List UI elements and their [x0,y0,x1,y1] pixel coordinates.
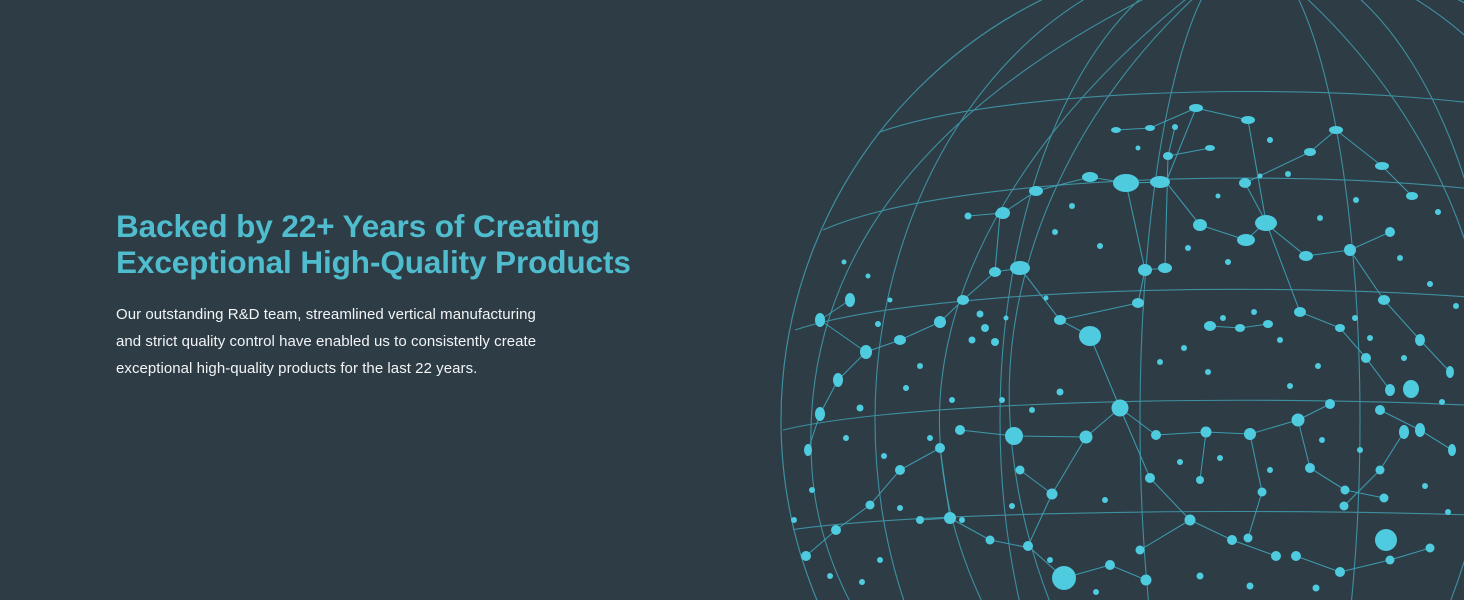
hero-copy-block: Backed by 22+ Years of Creating Exceptio… [116,209,656,382]
hero-banner: Backed by 22+ Years of Creating Exceptio… [0,0,1464,600]
globe-network-nodes [791,104,1459,595]
globe-network-lines [806,108,1452,580]
globe-graticule [781,0,1464,600]
page-title: Backed by 22+ Years of Creating Exceptio… [116,209,656,280]
hero-description: Our outstanding R&D team, streamlined ve… [116,280,656,382]
